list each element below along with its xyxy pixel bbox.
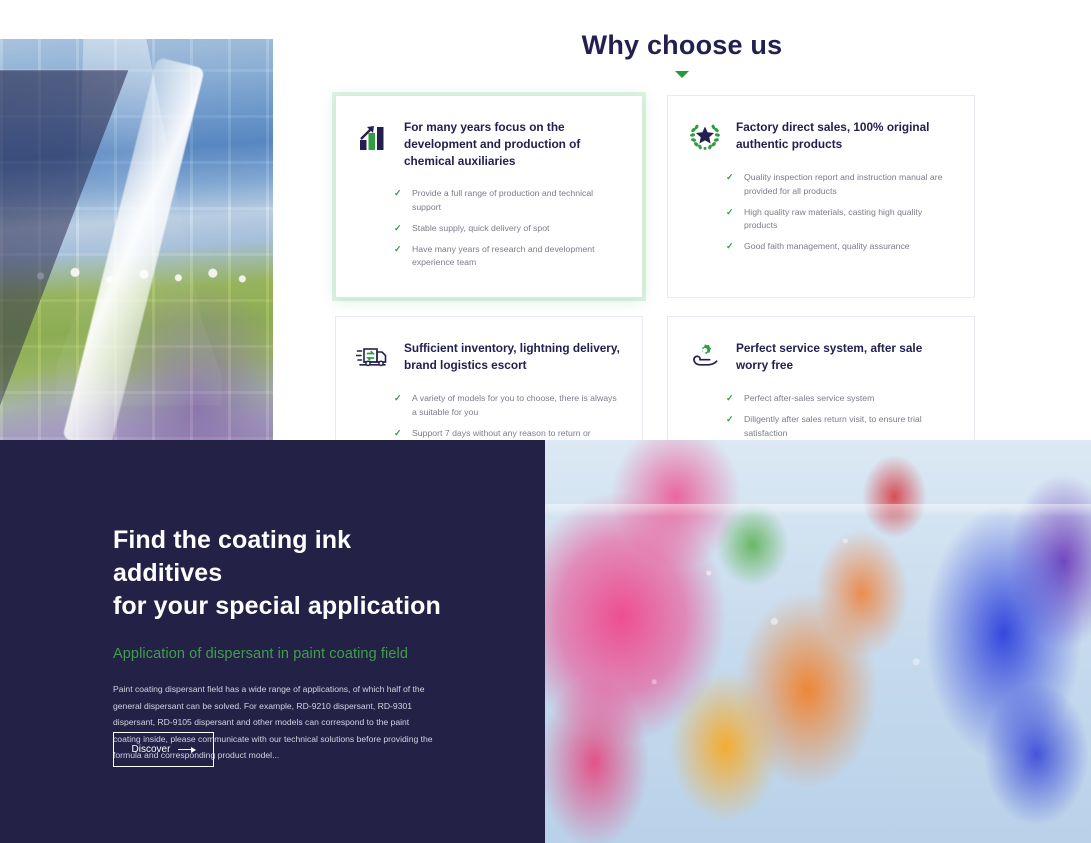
ink-droplets-texture [545,440,1091,843]
check-icon: ✓ [726,171,735,185]
list-item-text: Perfect after-sales service system [744,392,874,406]
section-header: Why choose us [273,30,1091,78]
feature-card-list: ✓Quality inspection report and instructi… [688,171,952,254]
list-item-text: Provide a full range of production and t… [412,187,620,215]
check-icon: ✓ [394,392,403,406]
caret-down-icon [675,71,689,78]
hero-heading-line-1: Find the coating ink additives [113,524,443,590]
check-icon: ✓ [394,222,403,236]
bar-chart-growth-icon [356,119,390,153]
list-item-text: Quality inspection report and instructio… [744,171,952,199]
check-icon: ✓ [726,240,735,254]
feature-card-header: Sufficient inventory, lightning delivery… [356,339,620,374]
delivery-truck-icon [356,340,390,374]
hero-heading-line-2: for your special application [113,590,443,623]
feature-card-title: Factory direct sales, 100% original auth… [736,118,952,153]
check-icon: ✓ [394,187,403,201]
feature-card-header: For many years focus on the development … [356,118,620,169]
list-item-text: Diligently after sales return visit, to … [744,413,952,441]
list-item-text: High quality raw materials, casting high… [744,206,952,234]
list-item: ✓A variety of models for you to choose, … [394,392,620,420]
feature-card-header: Factory direct sales, 100% original auth… [688,118,952,153]
feature-card[interactable]: Factory direct sales, 100% original auth… [667,95,975,298]
discover-button-label: Discover [132,744,171,755]
colorful-ink-in-water-photo [545,440,1091,843]
feature-card-title: Perfect service system, after sale worry… [736,339,952,374]
list-item: ✓Stable supply, quick delivery of spot [394,222,620,236]
check-icon: ✓ [726,392,735,406]
discover-button[interactable]: Discover [113,732,214,767]
check-icon: ✓ [394,243,403,257]
list-item-text: Stable supply, quick delivery of spot [412,222,549,236]
hero-text-block: Find the coating ink additives for your … [113,524,443,764]
check-icon: ✓ [394,427,403,441]
list-item: ✓Provide a full range of production and … [394,187,620,215]
feature-cards-row: For many years focus on the development … [335,95,981,298]
list-item-text: A variety of models for you to choose, t… [412,392,620,420]
list-item: ✓Diligently after sales return visit, to… [726,413,952,441]
feature-card-title: Sufficient inventory, lightning delivery… [404,339,620,374]
page-title: Why choose us [273,30,1091,61]
list-item-text: Have many years of research and developm… [412,243,620,271]
feature-card-header: Perfect service system, after sale worry… [688,339,952,374]
list-item: ✓Good faith management, quality assuranc… [726,240,952,254]
feature-card-list: ✓Provide a full range of production and … [356,187,620,270]
hero-subheading: Application of dispersant in paint coati… [113,646,443,662]
list-item: ✓Quality inspection report and instructi… [726,171,952,199]
list-item: ✓Perfect after-sales service system [726,392,952,406]
check-icon: ✓ [726,413,735,427]
laurel-star-icon [688,119,722,153]
arrow-right-icon [178,749,195,750]
hand-gear-service-icon [688,340,722,374]
list-item-text: Good faith management, quality assurance [744,240,910,254]
check-icon: ✓ [726,206,735,220]
list-item: ✓High quality raw materials, casting hig… [726,206,952,234]
hero-heading: Find the coating ink additives for your … [113,524,443,623]
list-item: ✓Have many years of research and develop… [394,243,620,271]
feature-card-title: For many years focus on the development … [404,118,620,169]
laboratory-flask-photo [0,39,273,486]
feature-card[interactable]: For many years focus on the development … [335,95,643,298]
page-root: Why choose us For many [0,0,1091,843]
